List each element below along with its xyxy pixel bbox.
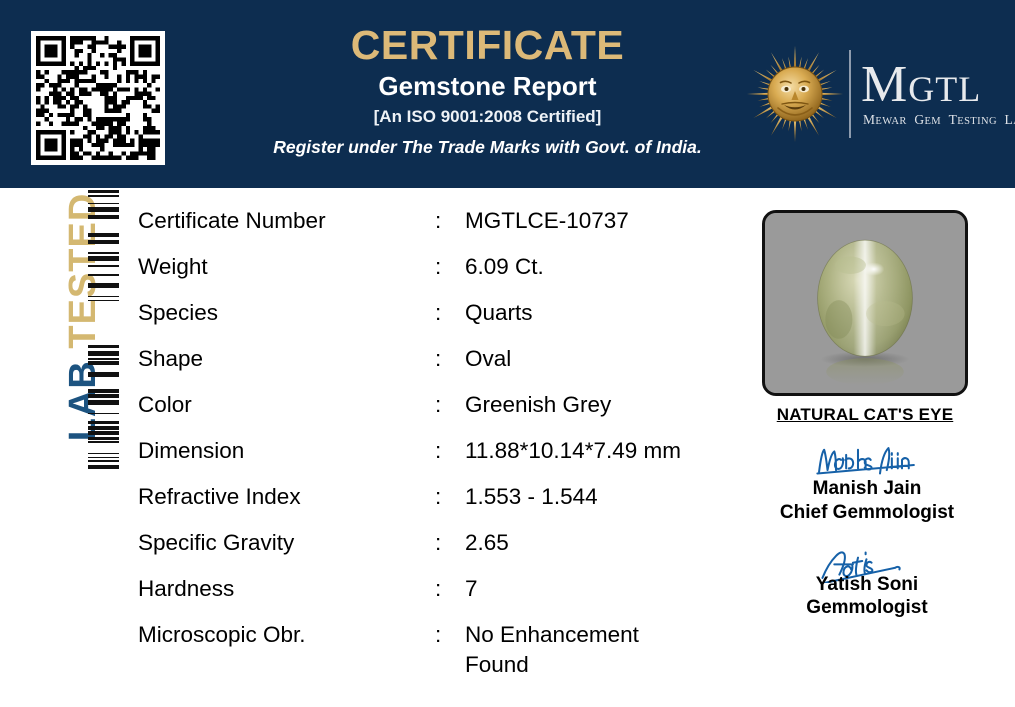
property-separator: : (435, 482, 465, 512)
property-label: Species (138, 298, 435, 328)
property-separator: : (435, 344, 465, 374)
property-separator: : (435, 574, 465, 604)
property-row: Weight:6.09 Ct. (138, 252, 738, 298)
signatory-name: Manish Jain (742, 477, 992, 501)
property-value: MGTLCE-10737 (465, 206, 738, 236)
gemstone-photo (765, 213, 965, 393)
property-label: Color (138, 390, 435, 420)
property-row: Dimension:11.88*10.14*7.49 mm (138, 436, 738, 482)
property-value: Greenish Grey (465, 390, 738, 420)
property-label: Dimension (138, 436, 435, 466)
property-separator: : (435, 436, 465, 466)
lab-tested-strip: LAB TESTED (46, 188, 126, 478)
property-row: Hardness:7 (138, 574, 738, 620)
property-label: Shape (138, 344, 435, 374)
mgtl-logo: MGTL TM MEWAR GEM TESTING LABORATORY (745, 30, 1000, 158)
property-value: 1.553 - 1.544 (465, 482, 738, 512)
logo-wordmark-smallcaps: GTL (908, 69, 981, 109)
property-value: 7 (465, 574, 738, 604)
gem-photo-panel: NATURAL CAT'S EYE (762, 210, 968, 425)
property-separator: : (435, 620, 465, 650)
property-label: Certificate Number (138, 206, 435, 236)
qr-code-canvas (36, 36, 160, 160)
property-row: Shape:Oval (138, 344, 738, 390)
signatory-role: Chief Gemmologist (742, 501, 992, 525)
gem-photo-frame (762, 210, 968, 396)
logo-wordmark: MGTL (861, 60, 1015, 109)
signature-block: Manish JainChief GemmologistYatish SoniG… (742, 443, 992, 634)
property-row: Color:Greenish Grey (138, 390, 738, 436)
certificate-header: CERTIFICATE Gemstone Report [An ISO 9001… (0, 0, 1015, 188)
property-label: Hardness (138, 574, 435, 604)
property-row: Specific Gravity:2.65 (138, 528, 738, 574)
property-value: Quarts (465, 298, 738, 328)
qr-code-icon[interactable] (31, 31, 165, 165)
signatory-role: Gemmologist (742, 596, 992, 620)
logo-text-group: MGTL TM MEWAR GEM TESTING LABORATORY (861, 60, 1015, 127)
property-separator: : (435, 528, 465, 558)
property-separator: : (435, 390, 465, 420)
property-separator: : (435, 298, 465, 328)
signatory-name: Yatish Soni (742, 573, 992, 597)
iso-certification-text: [An ISO 9001:2008 Certified] (245, 107, 730, 127)
property-separator: : (435, 206, 465, 236)
sun-face-emblem-icon (745, 44, 845, 144)
certificate-page: CERTIFICATE Gemstone Report [An ISO 9001… (0, 0, 1015, 707)
logo-full-name: MEWAR GEM TESTING LABORATORY (863, 112, 1015, 128)
property-label: Refractive Index (138, 482, 435, 512)
signature-entry: Manish JainChief Gemmologist (742, 443, 992, 525)
property-row: Microscopic Obr.:No Enhancement Found (138, 620, 738, 681)
property-label: Microscopic Obr. (138, 620, 435, 650)
property-value: No Enhancement Found (465, 620, 738, 681)
property-row: Species:Quarts (138, 298, 738, 344)
barcode-icon (88, 190, 119, 472)
property-value: Oval (465, 344, 738, 374)
property-separator: : (435, 252, 465, 282)
gemstone-properties-list: Certificate Number:MGTLCE-10737Weight:6.… (138, 206, 738, 681)
property-label: Specific Gravity (138, 528, 435, 558)
property-row: Refractive Index:1.553 - 1.544 (138, 482, 738, 528)
property-value: 11.88*10.14*7.49 mm (465, 436, 738, 466)
property-value: 2.65 (465, 528, 738, 558)
title-block: CERTIFICATE Gemstone Report [An ISO 9001… (245, 24, 730, 158)
page-title: CERTIFICATE (245, 24, 730, 67)
gem-caption: NATURAL CAT'S EYE (762, 405, 968, 425)
property-row: Certificate Number:MGTLCE-10737 (138, 206, 738, 252)
property-value: 6.09 Ct. (465, 252, 738, 282)
trademark-registration-text: Register under The Trade Marks with Govt… (245, 136, 730, 158)
report-subtitle: Gemstone Report (245, 71, 730, 102)
logo-divider (849, 50, 851, 138)
property-label: Weight (138, 252, 435, 282)
signature-entry: Yatish SoniGemmologist (742, 539, 992, 621)
